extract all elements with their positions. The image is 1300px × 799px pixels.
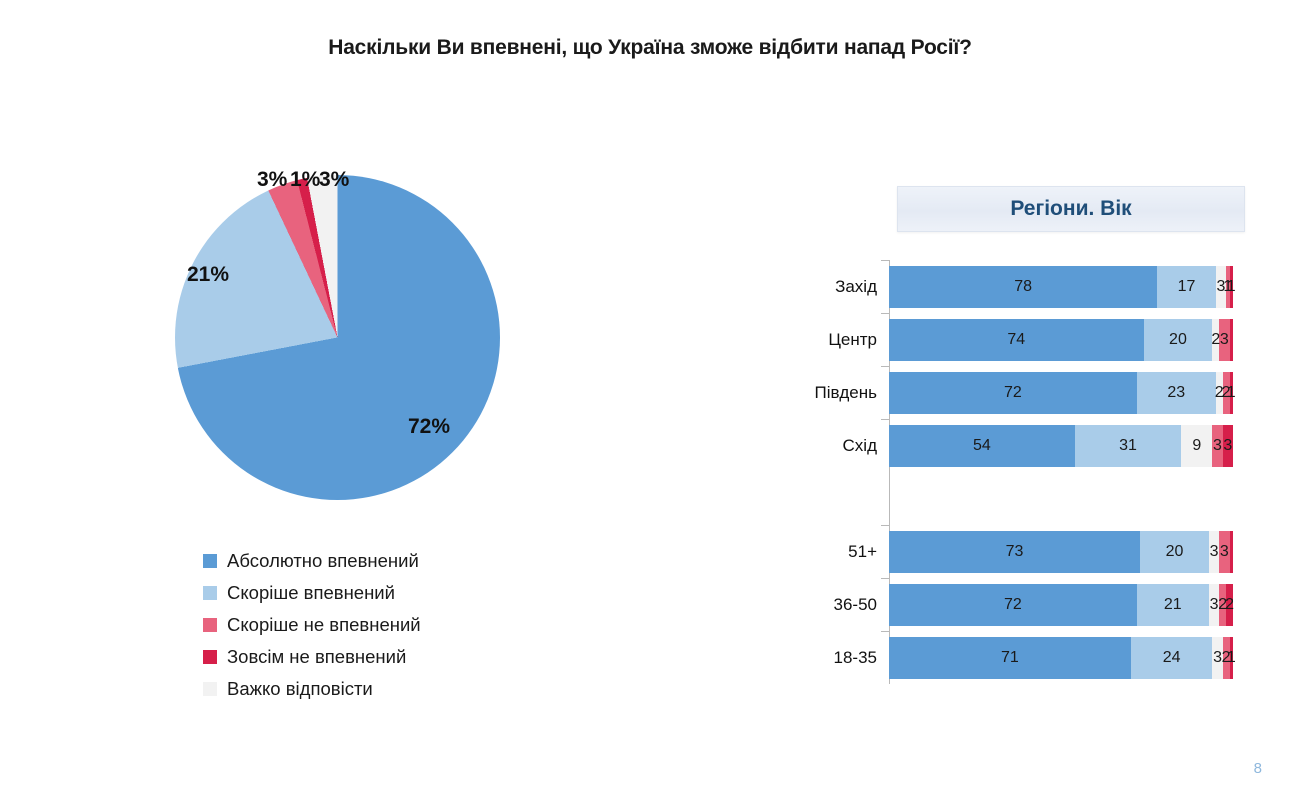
bar-segment-value: 72 bbox=[1004, 596, 1022, 614]
bar-row: Центр742023 bbox=[797, 313, 1245, 366]
bar-row-spacer bbox=[797, 472, 1245, 525]
bar-segment-rather-sure[interactable]: 23 bbox=[1137, 372, 1216, 414]
legend-item-rather-not-sure[interactable]: Скоріше не впевнений bbox=[203, 609, 421, 641]
bar-segment-rather-sure[interactable]: 21 bbox=[1137, 584, 1209, 626]
legend-label-rather-sure: Скоріше впевнений bbox=[227, 582, 395, 604]
bar-segment-absolutely-sure[interactable]: 78 bbox=[889, 266, 1157, 308]
legend-label-not-sure-at-all: Зовсім не впевнений bbox=[227, 646, 406, 668]
bar-segment-value: 1 bbox=[1227, 278, 1236, 296]
bar-segment-value: 24 bbox=[1163, 649, 1181, 667]
bar-category-label: Центр bbox=[797, 330, 889, 350]
bar-segment-value: 2 bbox=[1225, 596, 1234, 614]
legend-swatch-rather-not-sure bbox=[203, 618, 217, 632]
bar-segment-absolutely-sure[interactable]: 72 bbox=[889, 584, 1137, 626]
bar-segment-rather-sure[interactable]: 31 bbox=[1075, 425, 1182, 467]
bar-segment-value: 54 bbox=[973, 437, 991, 455]
bar-category-label: 36-50 bbox=[797, 595, 889, 615]
bar-segment-rather-not-sure[interactable]: 3 bbox=[1219, 319, 1229, 361]
legend-swatch-absolutely-sure bbox=[203, 554, 217, 568]
bar-segment-rather-sure[interactable]: 17 bbox=[1157, 266, 1215, 308]
bar-row: 36-507221322 bbox=[797, 578, 1245, 631]
bar-segment-absolutely-sure[interactable]: 73 bbox=[889, 531, 1140, 573]
bar-category-label: Південь bbox=[797, 383, 889, 403]
bar-segment-absolutely-sure[interactable]: 71 bbox=[889, 637, 1131, 679]
legend-swatch-hard-to-say bbox=[203, 682, 217, 696]
pie-slice-label-hard-to-say: 3% bbox=[319, 168, 349, 192]
bar-track: 7817311 bbox=[889, 266, 1233, 308]
legend-label-rather-not-sure: Скоріше не впевнений bbox=[227, 614, 421, 636]
axis-tick bbox=[881, 366, 890, 367]
legend-item-rather-sure[interactable]: Скоріше впевнений bbox=[203, 577, 421, 609]
axis-tick bbox=[881, 578, 890, 579]
bar-segment-value: 3 bbox=[1220, 543, 1229, 561]
bar-segment-value: 71 bbox=[1001, 649, 1019, 667]
bar-segment-not-sure-at-all[interactable]: 1 bbox=[1230, 266, 1233, 308]
page-number: 8 bbox=[1254, 760, 1262, 777]
legend-label-absolutely-sure: Абсолютно впевнений bbox=[227, 550, 419, 572]
pie-legend: Абсолютно впевненийСкоріше впевненийСкор… bbox=[203, 545, 421, 705]
bar-segment-value: 20 bbox=[1166, 543, 1184, 561]
bar-segment-rather-sure[interactable]: 20 bbox=[1144, 319, 1213, 361]
bar-segment-value: 3 bbox=[1210, 543, 1219, 561]
pie-chart bbox=[175, 175, 500, 500]
bar-segment-value: 3 bbox=[1223, 437, 1232, 455]
bar-row: Південь7223221 bbox=[797, 366, 1245, 419]
bar-segment-value: 3 bbox=[1213, 437, 1222, 455]
bar-segment-value: 31 bbox=[1119, 437, 1137, 455]
bar-segment-rather-sure[interactable]: 20 bbox=[1140, 531, 1209, 573]
bar-segment-value: 23 bbox=[1167, 384, 1185, 402]
legend-swatch-rather-sure bbox=[203, 586, 217, 600]
bar-segment-value: 17 bbox=[1178, 278, 1196, 296]
bar-segment-absolutely-sure[interactable]: 72 bbox=[889, 372, 1137, 414]
legend-item-absolutely-sure[interactable]: Абсолютно впевнений bbox=[203, 545, 421, 577]
bar-row: Захід7817311 bbox=[797, 260, 1245, 313]
pie-slice-label-absolutely-sure: 72% bbox=[408, 415, 450, 439]
bar-track: 742023 bbox=[889, 319, 1233, 361]
pie-slice-label-rather-sure: 21% bbox=[187, 263, 229, 287]
bar-segment-not-sure-at-all[interactable] bbox=[1230, 531, 1233, 573]
bar-category-label: 18-35 bbox=[797, 648, 889, 668]
bar-row: 51+732033 bbox=[797, 525, 1245, 578]
pie-chart-panel: 72% 21% 3% 1% 3% Абсолютно впевненийСкор… bbox=[120, 150, 590, 730]
pie-slice-label-not-sure-at-all: 1% bbox=[290, 168, 320, 192]
stacked-bar-chart: Захід7817311Центр742023Південь7223221Схі… bbox=[797, 260, 1245, 684]
bar-segment-not-sure-at-all[interactable] bbox=[1230, 319, 1233, 361]
bar-segment-value: 74 bbox=[1007, 331, 1025, 349]
bar-track: 732033 bbox=[889, 531, 1233, 573]
bar-segment-absolutely-sure[interactable]: 54 bbox=[889, 425, 1075, 467]
axis-tick bbox=[881, 313, 890, 314]
bar-segment-value: 1 bbox=[1227, 384, 1236, 402]
bar-row: Схід5431933 bbox=[797, 419, 1245, 472]
bar-segment-value: 3 bbox=[1210, 596, 1219, 614]
bar-segment-absolutely-sure[interactable]: 74 bbox=[889, 319, 1144, 361]
bar-segment-not-sure-at-all[interactable]: 3 bbox=[1223, 425, 1233, 467]
bar-track bbox=[889, 478, 1233, 520]
bar-segment-rather-not-sure[interactable]: 3 bbox=[1212, 425, 1222, 467]
bar-track: 5431933 bbox=[889, 425, 1233, 467]
bar-segment-not-sure-at-all[interactable]: 1 bbox=[1230, 372, 1233, 414]
bar-segment-value: 1 bbox=[1227, 649, 1236, 667]
axis-tick bbox=[881, 631, 890, 632]
regions-age-panel: Регіони. Вік Захід7817311Центр742023Півд… bbox=[897, 186, 1245, 232]
bar-row: 18-357124321 bbox=[797, 631, 1245, 684]
bar-segment-value: 2 bbox=[1211, 331, 1220, 349]
bar-segment-rather-sure[interactable]: 24 bbox=[1131, 637, 1213, 679]
bar-segment-hard-to-say[interactable]: 3 bbox=[1209, 531, 1219, 573]
axis-tick bbox=[881, 260, 890, 261]
bar-category-label: Захід bbox=[797, 277, 889, 297]
bar-segment-value: 9 bbox=[1192, 437, 1201, 455]
bar-segment-rather-not-sure[interactable]: 3 bbox=[1219, 531, 1229, 573]
bar-category-label: 51+ bbox=[797, 542, 889, 562]
legend-label-hard-to-say: Важко відповісти bbox=[227, 678, 373, 700]
bar-segment-hard-to-say[interactable]: 9 bbox=[1181, 425, 1212, 467]
bar-segment-not-sure-at-all[interactable]: 2 bbox=[1226, 584, 1233, 626]
bar-segment-not-sure-at-all[interactable]: 1 bbox=[1230, 637, 1233, 679]
legend-item-not-sure-at-all[interactable]: Зовсім не впевнений bbox=[203, 641, 421, 673]
bar-track: 7223221 bbox=[889, 372, 1233, 414]
bar-track: 7124321 bbox=[889, 637, 1233, 679]
legend-item-hard-to-say[interactable]: Важко відповісти bbox=[203, 673, 421, 705]
page-title: Наскільки Ви впевнені, що Україна зможе … bbox=[0, 36, 1300, 60]
bar-track: 7221322 bbox=[889, 584, 1233, 626]
bar-segment-value: 78 bbox=[1014, 278, 1032, 296]
legend-swatch-not-sure-at-all bbox=[203, 650, 217, 664]
bar-segment-value: 20 bbox=[1169, 331, 1187, 349]
bar-segment-value: 72 bbox=[1004, 384, 1022, 402]
bar-segment-value: 21 bbox=[1164, 596, 1182, 614]
bar-segment-value: 3 bbox=[1220, 331, 1229, 349]
pie-slice-label-rather-not-sure: 3% bbox=[257, 168, 287, 192]
bar-category-label: Схід bbox=[797, 436, 889, 456]
bar-segment-value: 73 bbox=[1006, 543, 1024, 561]
bar-segment-hard-to-say[interactable]: 2 bbox=[1212, 319, 1219, 361]
axis-tick bbox=[881, 419, 890, 420]
panel-header: Регіони. Вік bbox=[897, 186, 1245, 232]
axis-tick bbox=[881, 525, 890, 526]
